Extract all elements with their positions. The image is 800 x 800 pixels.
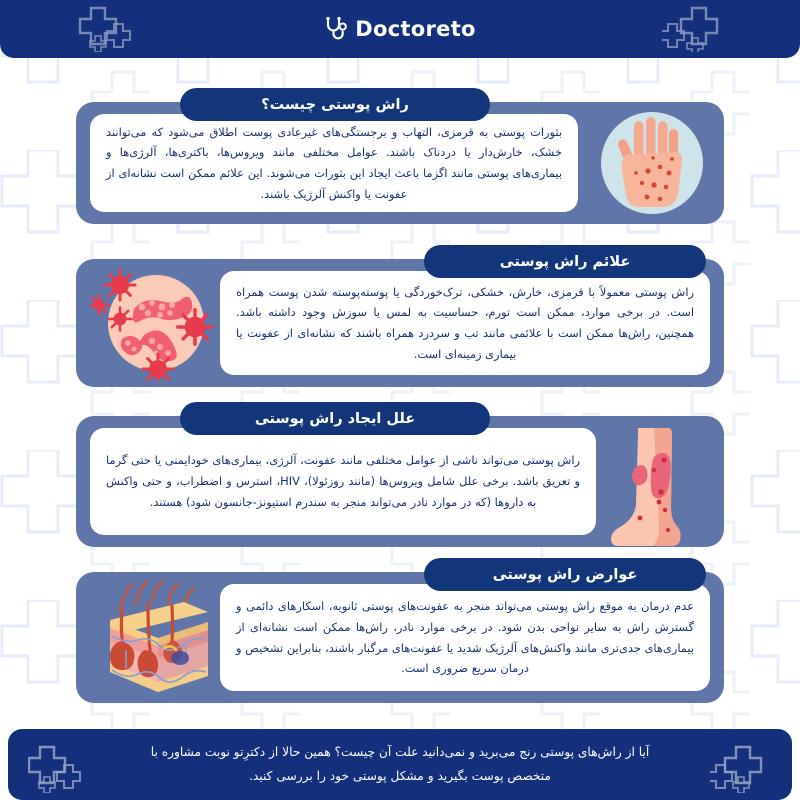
section-causes-of-skin-rash: راش پوستی می‌تواند ناشی از عوامل مختلفی … (76, 402, 724, 550)
decorative-cross-cluster-footer-left (28, 745, 90, 793)
section-body: عدم درمان به موقع راش پوستی می‌تواند منج… (236, 594, 694, 681)
decorative-cross-cluster-left (78, 6, 138, 52)
section-body: راش پوستی می‌تواند ناشی از عوامل مختلفی … (106, 448, 580, 514)
section-title: راش پوستی چیست؟ (261, 97, 409, 113)
decorative-cross-cluster-footer-right (710, 745, 772, 793)
section-what-is-skin-rash: بثورات پوستی به قرمزی، التهاب و برجستگی‌… (76, 88, 724, 228)
section-title: علل ایجاد راش پوستی (255, 411, 415, 427)
section-card: راش پوستی معمولاً با قرمزی، خارش، خشکی، … (76, 259, 724, 387)
section-body: بثورات پوستی به قرمزی، التهاب و برجستگی‌… (106, 120, 562, 207)
skin-cross-section-illustration (92, 580, 224, 696)
footer-cta-text: آیا از راش‌های پوستی رنج می‌برید و نمی‌د… (140, 741, 660, 789)
stethoscope-icon (324, 16, 348, 42)
section-text-panel: راش پوستی معمولاً با قرمزی، خارش، خشکی، … (220, 271, 710, 375)
decorative-cross-cluster-right (662, 6, 722, 52)
leg-with-rash-illustration (604, 426, 700, 546)
section-text-panel: عدم درمان به موقع راش پوستی می‌تواند منج… (220, 584, 710, 691)
section-text-panel: بثورات پوستی به قرمزی، التهاب و برجستگی‌… (90, 114, 578, 212)
virus-cells-illustration (90, 265, 222, 381)
section-complications-of-skin-rash: عدم درمان به موقع راش پوستی می‌تواند منج… (76, 558, 724, 706)
section-title: علائم راش پوستی (500, 254, 631, 270)
section-title-pill: راش پوستی چیست؟ (180, 88, 490, 121)
section-title-pill: عوارض راش پوستی (424, 558, 706, 591)
top-brand-bar: Doctoreto (0, 0, 800, 58)
section-card: عدم درمان به موقع راش پوستی می‌تواند منج… (76, 572, 724, 703)
brand-logo[interactable]: Doctoreto (324, 16, 476, 42)
infographic-page: Doctoreto (0, 0, 800, 800)
section-card: راش پوستی می‌تواند ناشی از عوامل مختلفی … (76, 416, 724, 547)
section-title: عوارض راش پوستی (493, 567, 638, 583)
hand-with-rash-illustration (596, 109, 708, 217)
section-title-pill: علائم راش پوستی (424, 245, 706, 278)
section-symptoms-of-skin-rash: راش پوستی معمولاً با قرمزی، خارش، خشکی، … (76, 245, 724, 390)
brand-name: Doctoreto (355, 17, 476, 41)
section-text-panel: راش پوستی می‌تواند ناشی از عوامل مختلفی … (90, 428, 596, 535)
section-title-pill: علل ایجاد راش پوستی (180, 402, 490, 435)
section-body: راش پوستی معمولاً با قرمزی، خارش، خشکی، … (236, 280, 694, 367)
footer-cta-bar: آیا از راش‌های پوستی رنج می‌برید و نمی‌د… (8, 729, 792, 800)
